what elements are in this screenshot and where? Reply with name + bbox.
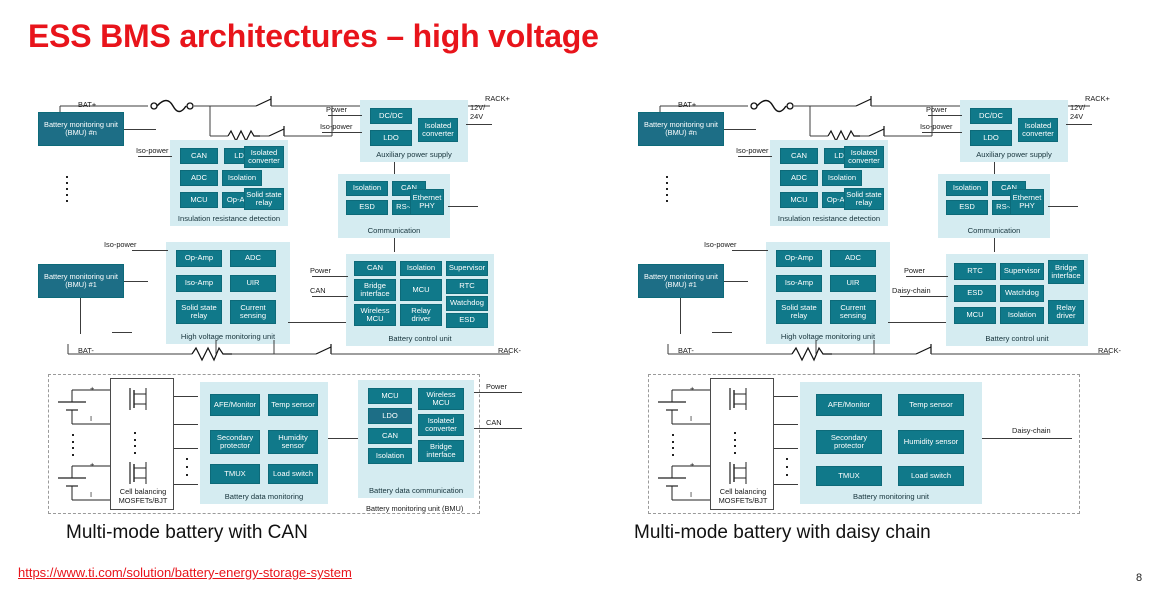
left-caption: Multi-mode battery with CAN [66,522,308,544]
left-bcu-power-label: Power [310,266,331,275]
right-bcu-daisy-wire [900,296,948,297]
left-bottom-power-label: Power [486,382,507,391]
right-bcu-rtc[interactable]: RTC [954,263,996,280]
left-bcu-can[interactable]: CAN [354,261,396,276]
right-comm-esd[interactable]: ESD [946,200,988,215]
right-bcu-supervisor[interactable]: Supervisor [1000,263,1044,280]
right-cell1-minus: I [690,414,692,423]
left-hv-opamp[interactable]: Op-Amp [176,250,222,267]
right-bm-temp-sensor[interactable]: Temp sensor [898,394,964,416]
right-bat-minus-label: BAT- [678,346,694,355]
right-communication-label: Communication [938,226,1050,235]
left-comm-ethernet-phy[interactable]: Ethernet PHY [410,189,444,215]
right-bcu-esd[interactable]: ESD [954,285,996,302]
right-bcu-relay-driver[interactable]: Relay driver [1048,300,1084,324]
left-ins-can[interactable]: CAN [180,148,218,164]
right-bcu-bridge-interface[interactable]: Bridge interface [1048,260,1084,284]
right-bcu-power-label: Power [904,266,925,275]
left-aux-out-wire [466,124,492,125]
left-comm-isolation[interactable]: Isolation [346,181,388,196]
left-rack-minus-label: RACK- [498,346,521,355]
left-comm-out-wire [448,206,478,207]
left-bmu-1-wire [124,281,148,282]
left-bmu-1-drop-wire [80,298,81,334]
right-monitoring-label: Battery monitoring unit [800,492,982,501]
left-dc-wireless-mcu[interactable]: Wireless MCU [418,388,464,410]
right-insulation-panel: CAN LDO Isolated converter ADC Isolation… [770,140,888,226]
left-dm-afe-monitor[interactable]: AFE/Monitor [210,394,260,416]
left-bmu-outer-label: Battery monitoring unit (BMU) [366,504,463,513]
left-bottom-can-label: CAN [486,418,502,427]
left-cb-tap-ellipsis [186,458,188,476]
right-bottom-rail-schematic [620,340,1150,368]
right-caption: Multi-mode battery with daisy chain [634,522,931,544]
page-number: 8 [1136,572,1142,584]
right-hv-monitor-panel: Op-Amp ADC Iso-Amp UIR Solid state relay… [766,242,890,344]
right-cb-tap-1 [774,396,798,397]
right-mosfet-ellipsis [734,432,736,454]
right-bm-secondary-protector[interactable]: Secondary protector [816,430,882,454]
right-bm-load-switch[interactable]: Load switch [898,466,964,486]
right-bcu-daisy-label: Daisy-chain [892,286,931,295]
left-dm-secondary-protector[interactable]: Secondary protector [210,430,260,454]
left-control-unit-panel: CAN Isolation Supervisor Bridge interfac… [346,254,494,346]
right-daisy-out-wire [982,438,1072,439]
right-bmu-1-drop-wire [680,298,681,334]
left-data-comm-label: Battery data communication [358,486,474,495]
right-hv-adc[interactable]: ADC [830,250,876,267]
right-iso-power-label-1: Iso-power [736,146,768,155]
right-ins-can[interactable]: CAN [780,148,818,164]
left-cell2-plus: + [90,460,94,469]
left-rack-plus-label: RACK+ [485,94,510,103]
left-cb-tap-4 [174,484,198,485]
left-bcu-wireless-mcu[interactable]: Wireless MCU [354,304,396,326]
right-bm-afe-monitor[interactable]: AFE/Monitor [816,394,882,416]
left-bcu-esd[interactable]: ESD [446,313,488,328]
right-ins-isolated-converter[interactable]: Isolated converter [844,146,884,168]
right-bmu-1-stub-wire [712,332,732,333]
right-bmu-1-block[interactable]: Battery monitoring unit (BMU) #1 [638,264,724,298]
left-cell-ellipsis [72,434,74,456]
right-aux-dcdc[interactable]: DC/DC [970,108,1012,124]
left-aux-iso-in-wire [322,132,362,133]
right-hv-solid-state-relay[interactable]: Solid state relay [776,300,822,324]
right-cb-tap-3 [774,448,798,449]
left-hv-solid-state-relay[interactable]: Solid state relay [176,300,222,324]
right-hv-current-sensing[interactable]: Current sensing [830,300,876,324]
left-cell1-minus: I [90,414,92,423]
left-bottom-power-wire [474,392,522,393]
right-aux-power-label: Auxiliary power supply [960,150,1068,159]
left-aux-power-panel: DC/DC LDO Isolated converter Auxiliary p… [360,100,468,162]
left-comm-top-wire [394,162,395,174]
left-bmu-ellipsis [66,176,68,202]
left-aux-power-label: Auxiliary power supply [360,150,468,159]
left-architecture-diagram: BAT+ RACK+ Battery monitoring unit (BMU)… [20,84,550,514]
left-bmu-n-block[interactable]: Battery monitoring unit (BMU) #n [38,112,124,146]
left-bcu-mcu[interactable]: MCU [400,279,442,301]
right-comm-bottom-wire [994,238,995,252]
left-cb-tap-3 [174,448,198,449]
left-dc-isolated-converter[interactable]: Isolated converter [418,414,464,436]
right-hv-out-wire [888,322,946,323]
right-cb-tap-ellipsis [786,458,788,476]
right-iso-power-wire-2 [732,250,768,251]
left-bcu-bridge-interface[interactable]: Bridge interface [354,279,396,301]
left-bcu-can-label: CAN [310,286,326,295]
right-aux-ldo[interactable]: LDO [970,130,1012,146]
right-bmu-1-wire [724,281,748,282]
left-aux-iso-in-label: Iso-power [320,122,352,131]
right-hv-opamp[interactable]: Op-Amp [776,250,822,267]
right-daisy-out-label: Daisy-chain [1012,426,1051,435]
left-ins-mcu[interactable]: MCU [180,192,218,208]
left-dc-mcu[interactable]: MCU [368,388,412,404]
right-ins-adc[interactable]: ADC [780,170,818,186]
left-mosfet-ellipsis [134,432,136,454]
right-bmu-ellipsis [666,176,668,202]
left-dc-isolation[interactable]: Isolation [368,448,412,464]
left-communication-label: Communication [338,226,450,235]
right-bm-humidity-sensor[interactable]: Humidity sensor [898,430,964,454]
left-cb-tap-1 [174,396,198,397]
left-bcu-can-wire [312,296,348,297]
left-iso-power-label-2: Iso-power [104,240,136,249]
slide: ESS BMS architectures – high voltage [0,0,1165,600]
left-dm-tmux[interactable]: TMUX [210,464,260,484]
left-hv-uir[interactable]: UIR [230,275,276,292]
left-iso-power-wire-1 [138,156,172,157]
right-aux-out-wire [1066,124,1092,125]
source-link[interactable]: https://www.ti.com/solution/battery-ener… [18,565,352,580]
right-aux-isolated-converter[interactable]: Isolated converter [1018,118,1058,142]
left-iso-power-wire-2 [132,250,168,251]
right-comm-top-wire [994,162,995,174]
left-dm-temp-sensor[interactable]: Temp sensor [268,394,318,416]
right-aux-power-panel: DC/DC LDO Isolated converter Auxiliary p… [960,100,1068,162]
left-cb-tap-2 [174,424,198,425]
left-cell2-minus: I [90,490,92,499]
left-insulation-panel: CAN LDO Isolated converter ADC Isolation… [170,140,288,226]
left-bcu-watchdog[interactable]: Watchdog [446,296,488,311]
left-bcu-isolation[interactable]: Isolation [400,261,442,276]
left-aux-isolated-converter[interactable]: Isolated converter [418,118,458,142]
left-aux-ldo[interactable]: LDO [370,130,412,146]
right-bmu-n-block[interactable]: Battery monitoring unit (BMU) #n [638,112,724,146]
right-aux-out-voltage-label: 12V/ 24V [1070,103,1096,122]
left-ins-isolation[interactable]: Isolation [222,170,262,186]
right-ins-solid-state-relay[interactable]: Solid state relay [844,188,884,210]
left-cell1-plus: + [90,384,94,393]
left-aux-power-in-label: Power [326,105,347,114]
right-cell-ellipsis [672,434,674,456]
left-bcu-relay-driver[interactable]: Relay driver [400,304,442,326]
left-bcu-power-wire [312,276,348,277]
left-cell-balancing-label: Cell balancing MOSFETs/BJT [114,488,172,506]
left-bmu-1-stub-wire [112,332,132,333]
right-aux-iso-in-wire [922,132,962,133]
left-aux-dcdc[interactable]: DC/DC [370,108,412,124]
right-bat-plus-label: BAT+ [678,100,696,109]
left-hv-monitor-panel: Op-Amp ADC Iso-Amp UIR Solid state relay… [166,242,290,344]
right-hv-uir[interactable]: UIR [830,275,876,292]
right-cb-tap-4 [774,484,798,485]
right-ins-mcu[interactable]: MCU [780,192,818,208]
left-bcu-rtc[interactable]: RTC [446,279,488,294]
right-bmu-n-wire [724,129,756,130]
right-comm-ethernet-phy[interactable]: Ethernet PHY [1010,189,1044,215]
left-hv-current-sensing[interactable]: Current sensing [230,300,276,324]
left-data-monitoring-label: Battery data monitoring [200,492,328,501]
right-iso-power-label-2: Iso-power [704,240,736,249]
right-communication-panel: Isolation CAN ESD RS-485 Ethernet PHY Co… [938,174,1050,238]
right-insulation-label: Insulation resistance detection [770,214,888,223]
right-aux-power-in-wire [928,115,962,116]
right-cell2-plus: + [690,460,694,469]
left-aux-out-voltage-label: 12V/ 24V [470,103,496,122]
left-aux-power-in-wire [328,115,362,116]
left-comm-bottom-wire [394,238,395,252]
left-bmu-n-wire [124,129,156,130]
right-bcu-mcu[interactable]: MCU [954,307,996,324]
right-bcu-watchdog[interactable]: Watchdog [1000,285,1044,302]
right-comm-out-wire [1048,206,1078,207]
left-data-comm-panel: MCU Wireless MCU LDO Isolated converter … [358,380,474,498]
right-cell-balancing-label: Cell balancing MOSFETs/BJT [714,488,772,506]
right-bcu-isolation[interactable]: Isolation [1000,307,1044,324]
right-aux-iso-in-label: Iso-power [920,122,952,131]
right-iso-power-wire-1 [738,156,772,157]
right-control-unit-panel: RTC Supervisor Bridge interface ESD Watc… [946,254,1088,346]
right-monitoring-panel: AFE/Monitor Temp sensor Secondary protec… [800,382,982,504]
left-dm-load-switch[interactable]: Load switch [268,464,318,484]
page-title: ESS BMS architectures – high voltage [28,18,599,55]
left-ins-adc[interactable]: ADC [180,170,218,186]
left-bmu-1-block[interactable]: Battery monitoring unit (BMU) #1 [38,264,124,298]
right-cb-tap-2 [774,424,798,425]
left-iso-power-label-1: Iso-power [136,146,168,155]
right-comm-isolation[interactable]: Isolation [946,181,988,196]
left-hv-adc[interactable]: ADC [230,250,276,267]
right-architecture-diagram: BAT+ RACK+ Battery monitoring unit (BMU)… [620,84,1150,514]
left-insulation-label: Insulation resistance detection [170,214,288,223]
left-ins-isolated-converter[interactable]: Isolated converter [244,146,284,168]
left-hv-iso-amp[interactable]: Iso-Amp [176,275,222,292]
left-dm-humidity-sensor[interactable]: Humidity sensor [268,430,318,454]
left-communication-panel: Isolation CAN ESD RS-485 Ethernet PHY Co… [338,174,450,238]
left-bottom-rail-schematic [20,340,550,368]
left-dc-can[interactable]: CAN [368,428,412,444]
left-dc-bridge-interface[interactable]: Bridge interface [418,440,464,462]
right-hv-iso-amp[interactable]: Iso-Amp [776,275,822,292]
right-bcu-power-wire [906,276,948,277]
left-ins-solid-state-relay[interactable]: Solid state relay [244,188,284,210]
left-hv-out-wire [288,322,346,323]
right-aux-power-in-label: Power [926,105,947,114]
right-cell1-plus: + [690,384,694,393]
left-data-monitoring-panel: AFE/Monitor Temp sensor Secondary protec… [200,382,328,504]
left-mosfet-symbols [124,384,166,496]
right-rack-plus-label: RACK+ [1085,94,1110,103]
right-mosfet-symbols [724,384,766,496]
left-dc-ldo[interactable]: LDO [368,408,412,424]
left-bat-plus-label: BAT+ [78,100,96,109]
right-ins-isolation[interactable]: Isolation [822,170,862,186]
right-cell2-minus: I [690,490,692,499]
left-bcu-supervisor[interactable]: Supervisor [446,261,488,276]
left-bottom-can-wire [474,428,522,429]
left-comm-esd[interactable]: ESD [346,200,388,215]
right-rack-minus-label: RACK- [1098,346,1121,355]
right-bm-tmux[interactable]: TMUX [816,466,882,486]
left-bat-minus-label: BAT- [78,346,94,355]
left-dm-to-dc-wire [328,438,358,439]
